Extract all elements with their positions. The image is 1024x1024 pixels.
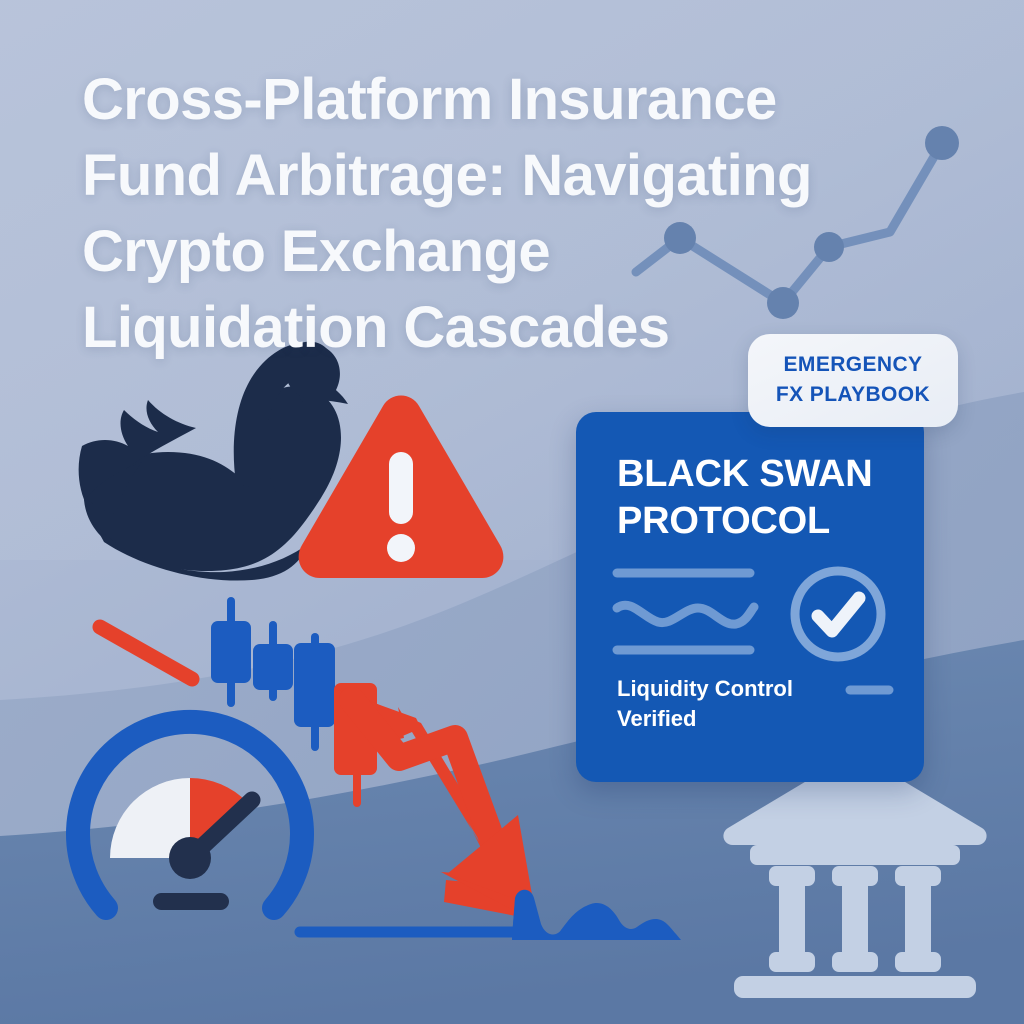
badge-line-1: EMERGENCY xyxy=(762,350,944,380)
emergency-fx-playbook-badge[interactable]: EMERGENCY FX PLAYBOOK xyxy=(748,334,958,427)
poster-canvas: Cross-Platform Insurance Fund Arbitrage:… xyxy=(0,0,1024,1024)
page-title: Cross-Platform Insurance Fund Arbitrage:… xyxy=(82,62,902,366)
title-line-2: Fund Arbitrage: Navigating xyxy=(82,138,902,214)
card-subtitle: Liquidity Control Verified xyxy=(617,674,867,734)
card-subtitle-line-1: Liquidity Control xyxy=(617,674,867,704)
check-circle-icon xyxy=(795,571,881,657)
card-subtitle-line-2: Verified xyxy=(617,704,867,734)
title-line-1: Cross-Platform Insurance xyxy=(82,62,902,138)
badge-line-2: FX PLAYBOOK xyxy=(762,380,944,410)
title-line-3: Crypto Exchange xyxy=(82,214,902,290)
black-swan-protocol-card[interactable]: BLACK SWAN PROTOCOL Liquidity Control Ve… xyxy=(576,412,924,782)
decor-wavy-line xyxy=(617,605,754,624)
